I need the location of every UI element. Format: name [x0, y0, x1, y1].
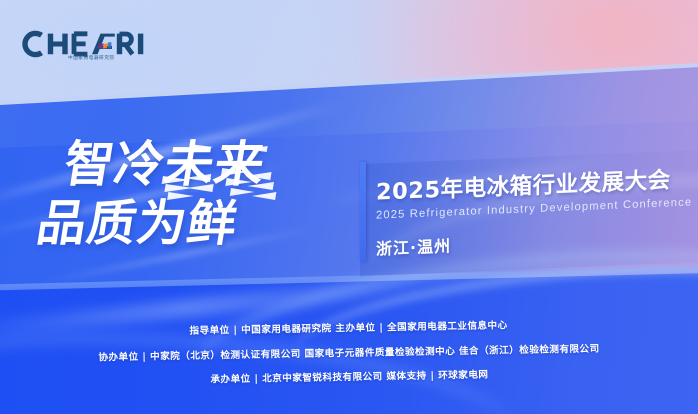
- vertical-divider-bar: [360, 162, 366, 262]
- headline-line-1: 智冷 未来: [61, 140, 269, 190]
- logo-subtitle: 中国家用电器研究院: [68, 55, 115, 61]
- credit-line-co-organizers: 协办单位 | 中家院（北京）检测认证有限公司 国家电子元器件质量检验检测中心 佳…: [0, 343, 698, 365]
- headline-line-1-plain: 智冷: [61, 140, 169, 190]
- conference-info: 2025年电冰箱行业发展大会 2025 Refrigerator Industr…: [376, 161, 692, 259]
- headline-line-1-frost: 未来: [161, 140, 269, 190]
- headline-line-2: 品质为鲜: [33, 199, 259, 249]
- credits-block: 指导单位 | 中国家用电器研究院 主办单位 | 全国家用电器工业信息中心 协办单…: [0, 318, 698, 389]
- cheari-logo: 中国家用电器研究院: [22, 29, 146, 65]
- conference-poster: 中国家用电器研究院 智冷 未来: [0, 0, 698, 414]
- headline-block: 智冷 未来: [51, 140, 268, 249]
